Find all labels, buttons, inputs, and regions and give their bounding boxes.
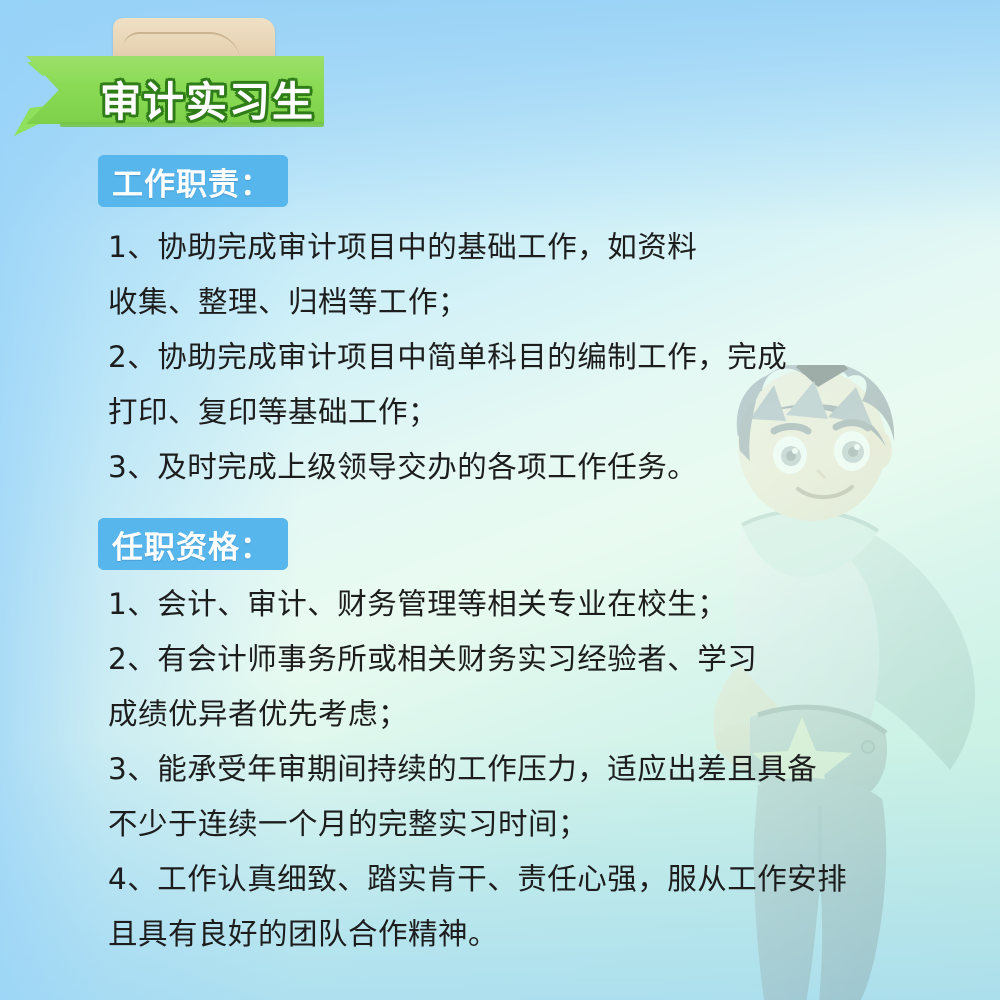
duties-text-block: 1、协助完成审计项目中的基础工作，如资料 收集、整理、归档等工作； 2、协助完成… <box>108 220 787 495</box>
duties-line-3: 2、协助完成审计项目中简单科目的编制工作，完成 <box>108 330 787 385</box>
banner-wave-left <box>89 518 99 570</box>
qualifications-line-4: 3、能承受年审期间持续的工作压力，适应出差且具备 <box>108 742 847 797</box>
title-block: 审计实习生 <box>0 18 420 138</box>
duties-line-5: 3、及时完成上级领导交办的各项工作任务。 <box>108 440 787 495</box>
banner-wave-right <box>287 518 297 570</box>
qualifications-line-1: 1、会计、审计、财务管理等相关专业在校生； <box>108 577 847 632</box>
duties-line-1: 1、协助完成审计项目中的基础工作，如资料 <box>108 220 787 275</box>
qualifications-line-2: 2、有会计师事务所或相关财务实习经验者、学习 <box>108 632 847 687</box>
duties-line-2: 收集、整理、归档等工作； <box>108 275 787 330</box>
section-header-duties-label: 工作职责： <box>112 159 272 204</box>
qualifications-text-block: 1、会计、审计、财务管理等相关专业在校生； 2、有会计师事务所或相关财务实习经验… <box>108 577 847 962</box>
section-header-qualifications-label: 任职资格： <box>112 522 272 567</box>
qualifications-line-5: 不少于连续一个月的完整实习时间； <box>108 797 847 852</box>
duties-line-4: 打印、复印等基础工作； <box>108 385 787 440</box>
poster-canvas: 审计实习生 工作职责： 1、协助完成审计项目中的基础工作，如资料 收集、整理、归… <box>0 0 1000 1000</box>
qualifications-line-3: 成绩优异者优先考虑； <box>108 687 847 742</box>
section-header-duties: 工作职责： <box>98 155 288 207</box>
qualifications-line-7: 且具有良好的团队合作精神。 <box>108 907 847 962</box>
banner-wave-left <box>89 155 99 207</box>
section-header-qualifications: 任职资格： <box>98 518 288 570</box>
qualifications-line-6: 4、工作认真细致、踏实肯干、责任心强，服从工作安排 <box>108 852 847 907</box>
banner-wave-right <box>287 155 297 207</box>
page-title: 审计实习生 <box>100 68 340 128</box>
